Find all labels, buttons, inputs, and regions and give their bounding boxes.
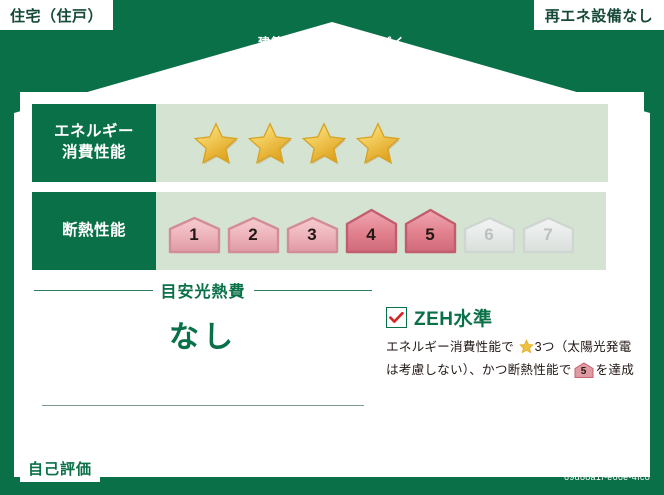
zeh-standard-block: ZEH水準 エネルギー消費性能で 3つ（太陽光発電 は考慮しない）、かつ断熱性能… <box>386 304 636 380</box>
star-icon <box>192 119 240 167</box>
label-content-panel: エネルギー 消費性能 断熱性能 1234567 目安光熱費 なし ZEH水 <box>20 92 644 477</box>
utility-cost-heading: 目安光熱費 <box>34 278 372 302</box>
insulation-label: 断熱性能 <box>62 221 126 242</box>
property-address: 鹿児島市永吉第3(1棟)1号棟26655700100 <box>100 462 299 477</box>
house-grade-icon <box>286 216 339 254</box>
evaluation-date: 評価日 2025年8月8日 <box>499 451 650 472</box>
house-grade-icon <box>463 216 516 254</box>
zeh-heading: ZEH水準 <box>386 304 636 331</box>
renewable-energy-label: 再エネ設備なし <box>545 5 654 26</box>
zeh-desc-part3: を達成 <box>596 363 634 377</box>
zeh-desc-part1: エネルギー消費性能で <box>386 340 514 354</box>
house-grade-icon <box>168 216 221 254</box>
insulation-grade-6: 6 <box>461 216 517 254</box>
zeh-desc-stars: 3つ（太陽光発電 <box>535 340 632 354</box>
title-subtitle: 建築物省エネ法に基づく <box>0 36 664 51</box>
self-evaluation-badge: 自己評価 <box>20 455 100 482</box>
zeh-description: エネルギー消費性能で 3つ（太陽光発電 は考慮しない）、かつ断熱性能で 5 を達… <box>386 338 636 380</box>
building-type-tag: 住宅（住戸） <box>0 0 113 30</box>
check-icon <box>386 307 407 328</box>
zeh-desc-part2: は考慮しない）、かつ断熱性能で <box>386 363 572 377</box>
insulation-performance-value: 1234567 <box>156 192 606 270</box>
evaluation-date-value: 2025年8月8日 <box>550 454 650 471</box>
zeh-title: ZEH水準 <box>414 304 493 331</box>
star-icon-inline <box>515 343 534 357</box>
utility-cost-rule <box>42 405 364 406</box>
star-rating <box>192 119 402 167</box>
insulation-grade-1: 1 <box>166 216 222 254</box>
insulation-grade-7: 7 <box>520 216 576 254</box>
insulation-performance-row: 断熱性能 1234567 <box>32 192 606 270</box>
insulation-performance-label: 断熱性能 <box>32 192 156 270</box>
label-title-block: 建築物省エネ法に基づく 省エネ性能ラベル <box>0 36 664 84</box>
renewable-energy-tag: 再エネ設備なし <box>534 0 664 30</box>
evaluation-id: 69d88a1f-e66e-4fc8 <box>564 472 650 482</box>
energy-performance-row: エネルギー 消費性能 <box>32 104 608 182</box>
house-grade-icon <box>227 216 280 254</box>
house-grade-icon <box>404 208 457 254</box>
utility-cost-title: 目安光熱費 <box>161 278 246 302</box>
evaluation-date-label: 評価日 <box>499 454 546 471</box>
energy-label-line2: 消費性能 <box>62 143 126 164</box>
star-icon <box>300 119 348 167</box>
energy-label-line1: エネルギー <box>54 122 134 143</box>
insulation-grade-4: 4 <box>343 208 399 254</box>
star-icon <box>354 119 402 167</box>
divider-right <box>254 290 373 291</box>
utility-cost-value: なし <box>34 312 372 356</box>
house-grade-icon <box>345 208 398 254</box>
insulation-grade-5: 5 <box>402 208 458 254</box>
insulation-grade-2: 2 <box>225 216 281 254</box>
house-grade-icon <box>522 216 575 254</box>
insulation-grade-3: 3 <box>284 216 340 254</box>
label-footer: 自己評価 鹿児島市永吉第3(1棟)1号棟26655700100 評価日 2025… <box>0 443 664 495</box>
page-title: 省エネ性能ラベル <box>0 53 664 84</box>
divider-left <box>34 290 153 291</box>
house-icon-number: 5 <box>574 365 594 378</box>
building-type-label: 住宅（住戸） <box>10 5 103 26</box>
star-icon <box>246 119 294 167</box>
house-icon-inline: 5 <box>574 362 594 378</box>
energy-performance-label: エネルギー 消費性能 <box>32 104 156 182</box>
insulation-scale: 1234567 <box>166 208 576 254</box>
energy-performance-value <box>156 104 608 182</box>
